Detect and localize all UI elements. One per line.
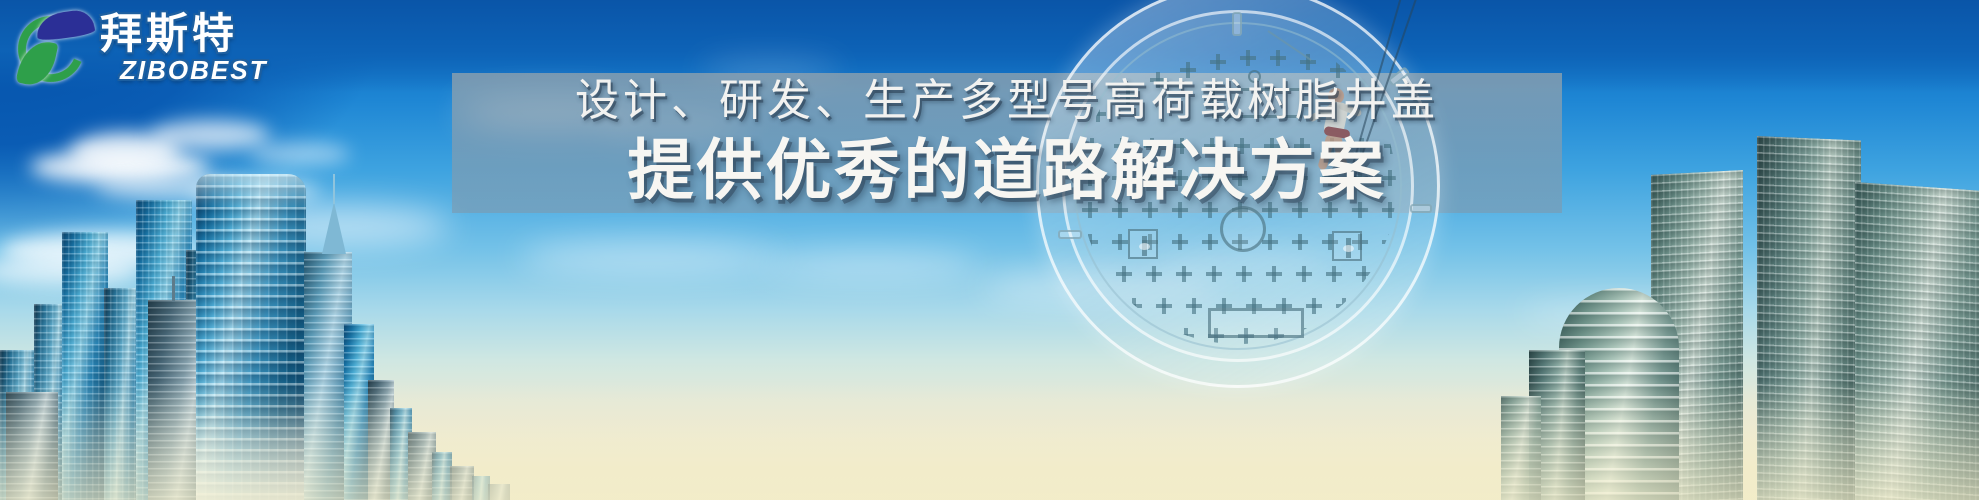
building (6, 392, 58, 500)
headline-line-1: 设计、研发、生产多型号高荷载树脂井盖 (452, 69, 1562, 133)
logo-name-cn: 拜斯特 (100, 10, 238, 58)
manhole-bottom-plate (1208, 308, 1304, 338)
hero-banner: 设计、研发、生产多型号高荷载树脂井盖 提供优秀的道路解决方案 拜斯特 ZIBOB… (0, 0, 1979, 500)
headline-line-2: 提供优秀的道路解决方案 (452, 128, 1562, 212)
headline-text-group: 设计、研发、生产多型号高荷载树脂井盖 提供优秀的道路解决方案 (452, 73, 1562, 213)
building (450, 466, 474, 500)
manhole-lock-left (1128, 229, 1158, 259)
building (1757, 136, 1861, 500)
spire (322, 202, 346, 254)
logo-emblem-icon (14, 10, 92, 88)
building (1501, 396, 1541, 500)
spire-mast (333, 174, 335, 204)
building (432, 452, 452, 500)
manhole-tab-top (1232, 12, 1242, 36)
right-cityscape (1509, 70, 1979, 500)
building (1855, 182, 1979, 500)
logo-blue-swoosh-icon (34, 8, 95, 42)
company-logo[interactable]: 拜斯特 ZIBOBEST (8, 4, 348, 92)
building (62, 232, 108, 500)
main-glass-tower (196, 174, 306, 500)
antenna (172, 276, 175, 302)
manhole-tab-left (1058, 230, 1082, 239)
logo-name-en: ZIBOBEST (120, 56, 267, 84)
building (488, 484, 510, 500)
manhole-lock-right (1332, 231, 1362, 261)
